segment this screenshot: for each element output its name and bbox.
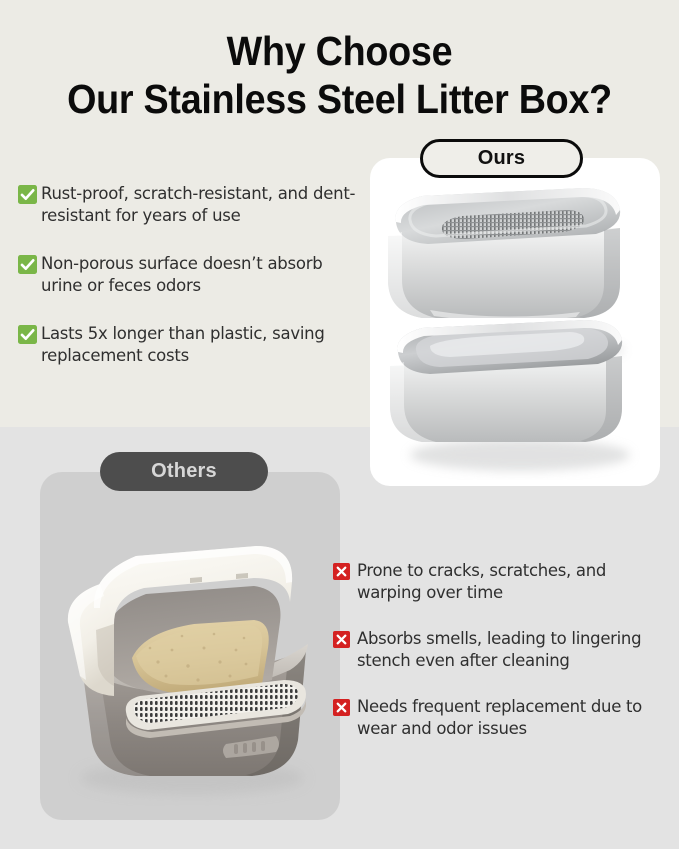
list-item: Prone to cracks, scratches, and warping … xyxy=(333,560,669,604)
page-title-line-1: Why Choose xyxy=(27,28,652,76)
upper-sifter-pan xyxy=(388,188,620,321)
list-item-label: Absorbs smells, leading to lingering ste… xyxy=(357,628,669,672)
list-item-label: Needs frequent replacement due to wear a… xyxy=(357,696,669,740)
badge-ours-label: Ours xyxy=(478,147,525,170)
cons-list: Prone to cracks, scratches, and warping … xyxy=(333,560,669,740)
pros-list: Rust-proof, scratch-resistant, and dent-… xyxy=(18,183,358,367)
page-title: Why Choose Our Stainless Steel Litter Bo… xyxy=(27,28,652,124)
list-item-label: Non-porous surface doesn’t absorb urine … xyxy=(41,253,358,297)
list-item: Absorbs smells, leading to lingering ste… xyxy=(333,628,669,672)
green-check-icon xyxy=(18,185,37,204)
list-item: Rust-proof, scratch-resistant, and dent-… xyxy=(18,183,358,227)
list-item: Needs frequent replacement due to wear a… xyxy=(333,696,669,740)
green-check-icon xyxy=(18,255,37,274)
infographic-root: Why Choose Our Stainless Steel Litter Bo… xyxy=(0,0,679,849)
list-item: Lasts 5x longer than plastic, saving rep… xyxy=(18,323,358,367)
green-check-icon xyxy=(18,325,37,344)
list-item-label: Prone to cracks, scratches, and warping … xyxy=(357,560,669,604)
badge-ours: Ours xyxy=(420,139,583,178)
list-item: Non-porous surface doesn’t absorb urine … xyxy=(18,253,358,297)
list-item-label: Rust-proof, scratch-resistant, and dent-… xyxy=(41,183,358,227)
lower-basin xyxy=(390,320,622,442)
ours-product-image xyxy=(370,170,660,480)
badge-others-label: Others xyxy=(151,460,217,483)
badge-others: Others xyxy=(100,452,268,491)
list-item-label: Lasts 5x longer than plastic, saving rep… xyxy=(41,323,358,367)
others-product-image xyxy=(40,490,340,810)
page-title-line-2: Our Stainless Steel Litter Box? xyxy=(27,76,652,124)
